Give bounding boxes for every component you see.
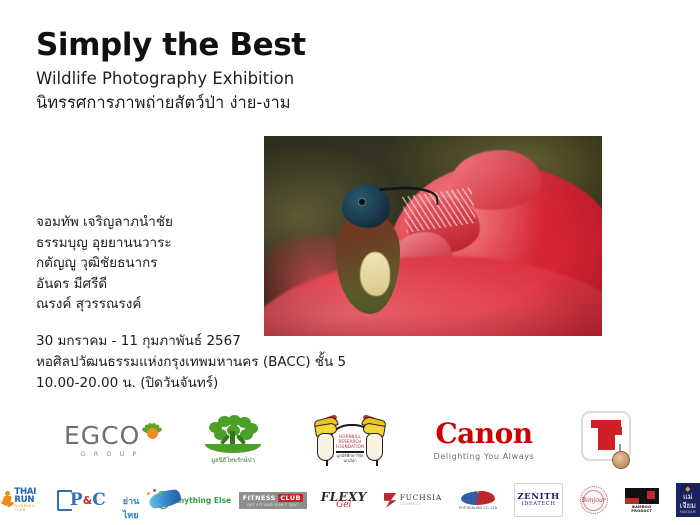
photographer-list: จอมทัพ เจริญลาภนำชัย ธรรมบุญ อุยยานนวาระ… xyxy=(36,212,266,315)
hornbill-line-4: มูลนิธิศึกษาวิจัยนกเงือก xyxy=(334,454,366,464)
sponsor-logo-fitness-club: FITNESS CLUB GET FIT AND DON'T QUIT xyxy=(242,487,304,513)
canon-tagline: Delighting You Always xyxy=(434,452,535,461)
forest-foundation-label: มูลนิธิไทยรักษ์ป่า xyxy=(211,455,255,465)
fuchsia-text: FUCHSIA COSMETICS xyxy=(400,494,442,506)
p-and-c-ampersand: & xyxy=(83,495,93,506)
fuchsia-sub: COSMETICS xyxy=(400,503,442,506)
page-title: Simply the Best xyxy=(36,28,366,63)
sponsor-logo-mae-jiam: ◆ แม่เจียม MAEJIAM xyxy=(676,487,700,513)
exhibition-poster: Simply the Best Wildlife Photography Exh… xyxy=(0,0,700,525)
event-venue: หอศิลปวัฒนธรรมแห่งกรุงเทพมหานคร (BACC) ช… xyxy=(36,352,376,373)
sponsor-row-secondary: THAI RUN RUNNING CLUB P & C ย่านไทย AE A… xyxy=(0,478,700,522)
thai-run-line-3: RUNNING CLUB xyxy=(14,505,39,512)
seal-icon: Bonjour xyxy=(580,486,608,514)
pop-sealing-wrapper: POP SEALING CO.,LTD xyxy=(459,491,497,510)
canon-wordmark: Canon xyxy=(435,420,532,448)
sponsor-logo-thaipbs: ย่านไทย xyxy=(123,489,146,511)
bonjour-word: Bonjour xyxy=(583,490,604,511)
event-hours: 10.00-20.00 น. (ปิดวันจันทร์) xyxy=(36,373,376,394)
fuchsia-word: FUCHSIA xyxy=(400,494,442,502)
hornbill-text-block: HORNBILL RESEARCH FOUNDATION มูลนิธิศึกษ… xyxy=(334,434,366,464)
thaipbs-label: ย่านไทย xyxy=(123,494,146,522)
sponsor-logo-bonjour: Bonjour xyxy=(580,487,608,513)
hornbill-body xyxy=(317,433,334,461)
egco-lockup: EGCO xyxy=(64,422,156,448)
pop-sealing-label: POP SEALING CO.,LTD xyxy=(459,506,497,510)
zenith-sub: IDEATECH xyxy=(517,501,559,507)
fitness-word-1: FITNESS xyxy=(243,494,279,502)
sponsor-logo-canon: Canon Delighting You Always xyxy=(430,420,538,461)
p-and-c-letter-p: P xyxy=(70,492,83,509)
bamboo-mark-icon xyxy=(625,488,659,504)
subtitle-english: Wildlife Photography Exhibition xyxy=(36,69,366,90)
event-details: 30 มกราคม - 11 กุมภาพันธ์ 2567 หอศิลปวัฒ… xyxy=(36,331,376,394)
sponsor-logo-zenith: ZENITH IDEATECH xyxy=(514,483,562,517)
leaf-burst-icon xyxy=(140,422,156,446)
exhibition-photograph xyxy=(264,136,602,336)
fitness-club-tagline: GET FIT AND DON'T QUIT xyxy=(243,503,303,507)
fitness-word-2: CLUB xyxy=(278,494,303,502)
anything-else-label: Anything Else xyxy=(173,496,231,505)
sponsor-logo-egco: EGCO G R O U P xyxy=(64,422,156,458)
title-block: Simply the Best Wildlife Photography Exh… xyxy=(36,28,366,115)
fuchsia-mark-icon xyxy=(384,493,397,508)
zenith-word: ZENITH xyxy=(517,493,559,502)
mae-jiam-sub: MAEJIAM xyxy=(680,510,696,514)
dot-icon xyxy=(147,492,150,495)
sponsor-logo-bamboo-product: BAMBOO PRODUCT xyxy=(625,487,659,513)
tf-letter-f-stem xyxy=(607,427,615,450)
charm-icon xyxy=(612,451,630,469)
subtitle-thai: นิทรรศการภาพถ่ายสัตว์ป่า ง่าย-งาม xyxy=(36,92,366,114)
tree-icon xyxy=(205,415,261,453)
sponsor-logo-tf xyxy=(578,411,636,469)
photo-vignette xyxy=(264,136,602,336)
dot-icon xyxy=(159,491,162,494)
photo-canvas xyxy=(264,136,602,336)
egco-subtext: G R O U P xyxy=(81,450,140,458)
egco-wordmark: EGCO xyxy=(64,423,140,448)
sponsor-logo-thai-run: THAI RUN RUNNING CLUB xyxy=(0,487,40,513)
bamboo-line-2: PRODUCT xyxy=(625,509,659,513)
p-and-c-letter-c: C xyxy=(92,492,106,509)
mae-jiam-word: แม่เจียม xyxy=(680,493,696,510)
flexy-gel-wrapper: FLEXY Gel xyxy=(321,491,367,510)
sponsor-logo-forest-foundation: มูลนิธิไทยรักษ์ป่า xyxy=(196,415,270,465)
list-item: กตัญญู วุฒิชัยธนากร xyxy=(36,253,266,274)
mae-jiam-plate: ◆ แม่เจียม MAEJIAM xyxy=(676,483,700,517)
hornbill-line-3: FOUNDATION xyxy=(334,444,366,449)
sponsor-logo-fuchsia: FUCHSIA COSMETICS xyxy=(384,487,442,513)
tf-letter-t-stem xyxy=(598,420,607,450)
sponsor-logo-flexy-gel: FLEXY Gel xyxy=(321,487,367,513)
runner-icon xyxy=(0,491,11,509)
list-item: อันดร มีศรีดี xyxy=(36,274,266,295)
sponsor-logo-hornbill-foundation: HORNBILL RESEARCH FOUNDATION มูลนิธิศึกษ… xyxy=(310,412,390,468)
swoosh-icon xyxy=(461,491,495,505)
zenith-wrapper: ZENITH IDEATECH xyxy=(517,493,559,508)
dot-icon xyxy=(153,489,156,492)
list-item: ธรรมบุญ อุยยานนวาระ xyxy=(36,233,266,254)
bamboo-wrapper: BAMBOO PRODUCT xyxy=(625,488,659,513)
hornbill-body xyxy=(366,433,383,461)
sponsor-logo-pop-sealing: POP SEALING CO.,LTD xyxy=(459,487,497,513)
ground-arc xyxy=(205,444,261,453)
sponsor-row-primary: EGCO G R O U P xyxy=(0,404,700,476)
list-item: จอมทัพ เจริญลาภนำชัย xyxy=(36,212,266,233)
fitness-club-plate: FITNESS CLUB GET FIT AND DON'T QUIT xyxy=(239,492,307,509)
fitness-club-title: FITNESS CLUB xyxy=(243,494,303,502)
sponsor-logo-p-and-c: P & C xyxy=(57,487,106,513)
thai-run-text: THAI RUN RUNNING CLUB xyxy=(14,488,39,512)
list-item: ณรงค์ สุวรรณรงค์ xyxy=(36,294,266,315)
